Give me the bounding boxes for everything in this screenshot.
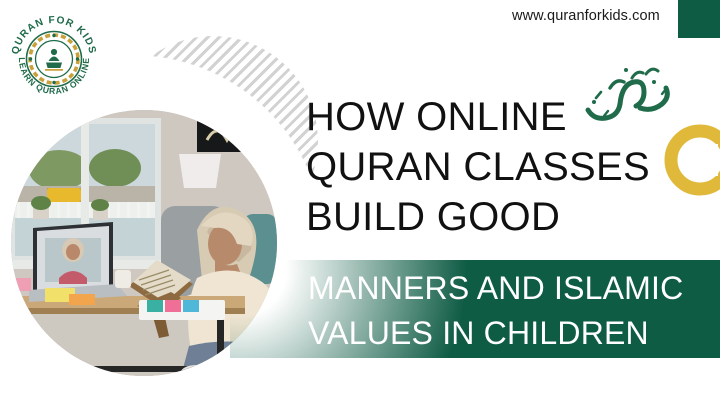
promotional-banner: www.quranforkids.com QURAN FOR KIDS	[0, 0, 720, 405]
website-url: www.quranforkids.com	[512, 8, 660, 24]
headline-line-1: HOW ONLINE	[306, 92, 706, 142]
headline-line-2: QURAN CLASSES	[306, 142, 706, 192]
headline-line-3: BUILD GOOD	[306, 192, 706, 242]
quran-for-kids-logo[interactable]: QURAN FOR KIDS LEARN QURAN ONLINE	[8, 13, 100, 105]
headline: HOW ONLINE QURAN CLASSES BUILD GOOD	[306, 92, 706, 242]
top-right-green-block	[678, 0, 720, 38]
sub-headline-line-1: MANNERS AND ISLAMIC	[308, 266, 720, 311]
sub-headline-text: MANNERS AND ISLAMIC VALUES IN CHILDREN	[308, 266, 720, 356]
sub-headline-line-2: VALUES IN CHILDREN	[308, 311, 720, 356]
